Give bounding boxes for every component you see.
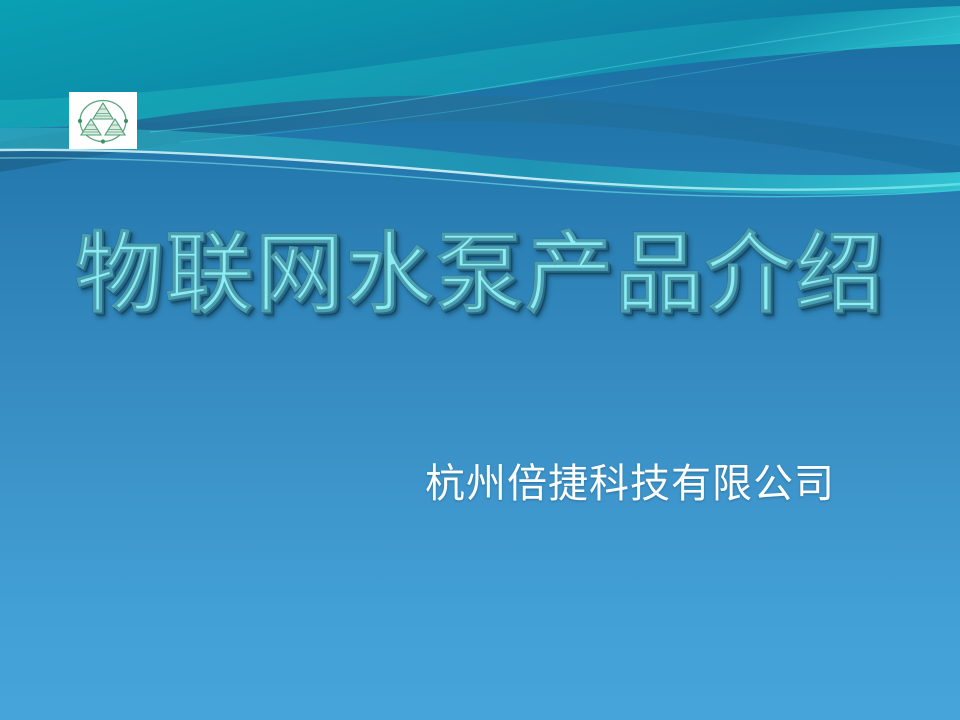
flow-theme-wave-decoration xyxy=(0,0,960,230)
wave-hairline-bright xyxy=(0,150,960,190)
wave-strand-upper-right-1 xyxy=(150,16,960,132)
wave-strand-upper-right-2 xyxy=(180,34,960,142)
wave-hairline-secondary xyxy=(0,158,960,197)
company-logo xyxy=(69,92,137,149)
slide-subtitle: 杭州倍捷科技有限公司 xyxy=(360,462,900,506)
wave-ribbon-dark xyxy=(0,95,960,176)
wave-ribbon-teal-lower xyxy=(0,128,960,195)
three-pyramids-in-circle-icon xyxy=(75,96,131,146)
wave-ribbon-teal xyxy=(0,6,960,128)
wave-teal-corner xyxy=(0,0,960,120)
slide-title: 物联网水泵产品介绍 xyxy=(60,228,900,320)
presentation-slide: 物联网水泵产品介绍 杭州倍捷科技有限公司 xyxy=(0,0,960,720)
